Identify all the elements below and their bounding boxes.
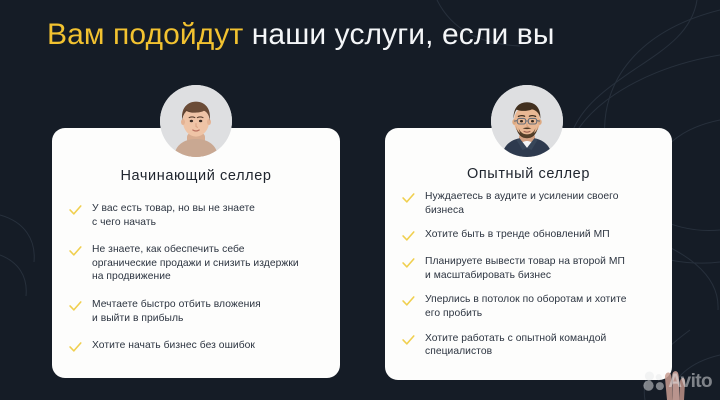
list-item: Нуждаетесь в аудите и усилении своего би… — [401, 190, 660, 217]
page-title-plain: наши услуги, если вы — [252, 18, 555, 51]
card-beginner-seller: Начинающий селлер У вас есть товар, но в… — [52, 128, 340, 378]
list-item-label: Хотите быть в тренде обновлений МП — [425, 228, 610, 242]
page-title-accent: Вам подойдут — [47, 18, 243, 51]
list-item: Хотите работать с опытной командой специ… — [401, 332, 660, 359]
page-title: Вам подойдут наши услуги, если вы — [47, 18, 707, 52]
check-icon — [401, 191, 416, 206]
avatar-young-seller — [160, 85, 232, 157]
list-item: Хотите начать бизнес без ошибок — [68, 339, 328, 355]
list-item: Уперлись в потолок по оборотам и хотите … — [401, 293, 660, 320]
slide-canvas: Вам подойдут наши услуги, если вы Начина… — [0, 0, 720, 400]
list-item: Мечтаете быстро отбить вложения и выйти … — [68, 298, 328, 325]
list-item-label: Хотите начать бизнес без ошибок — [92, 339, 255, 353]
check-icon — [401, 294, 416, 309]
card-experienced-title: Опытный селлер — [385, 166, 672, 182]
list-item-label: Нуждаетесь в аудите и усилении своего би… — [425, 190, 619, 217]
card-experienced-list: Нуждаетесь в аудите и усилении своего би… — [401, 190, 660, 370]
card-beginner-list: У вас есть товар, но вы не знаете с чего… — [68, 202, 328, 369]
list-item: Планируете вывести товар на второй МП и … — [401, 255, 660, 282]
avatar-experienced-seller — [491, 85, 563, 157]
list-item: Не знаете, как обеспечить себе органичес… — [68, 243, 328, 284]
card-beginner-title: Начинающий селлер — [52, 168, 340, 184]
check-icon — [68, 244, 83, 259]
check-icon — [68, 340, 83, 355]
avito-watermark-text: Avito — [668, 372, 712, 391]
check-icon — [401, 256, 416, 271]
list-item-label: Мечтаете быстро отбить вложения и выйти … — [92, 298, 261, 325]
check-icon — [68, 203, 83, 218]
list-item-label: Планируете вывести товар на второй МП и … — [425, 255, 625, 282]
check-icon — [401, 229, 416, 244]
list-item: Хотите быть в тренде обновлений МП — [401, 228, 660, 244]
check-icon — [401, 333, 416, 348]
card-experienced-seller: Опытный селлер Нуждаетесь в аудите и уси… — [385, 128, 672, 380]
list-item-label: У вас есть товар, но вы не знаете с чего… — [92, 202, 255, 229]
check-icon — [68, 299, 83, 314]
list-item-label: Уперлись в потолок по оборотам и хотите … — [425, 293, 627, 320]
list-item-label: Не знаете, как обеспечить себе органичес… — [92, 243, 299, 284]
list-item: У вас есть товар, но вы не знаете с чего… — [68, 202, 328, 229]
list-item-label: Хотите работать с опытной командой специ… — [425, 332, 606, 359]
